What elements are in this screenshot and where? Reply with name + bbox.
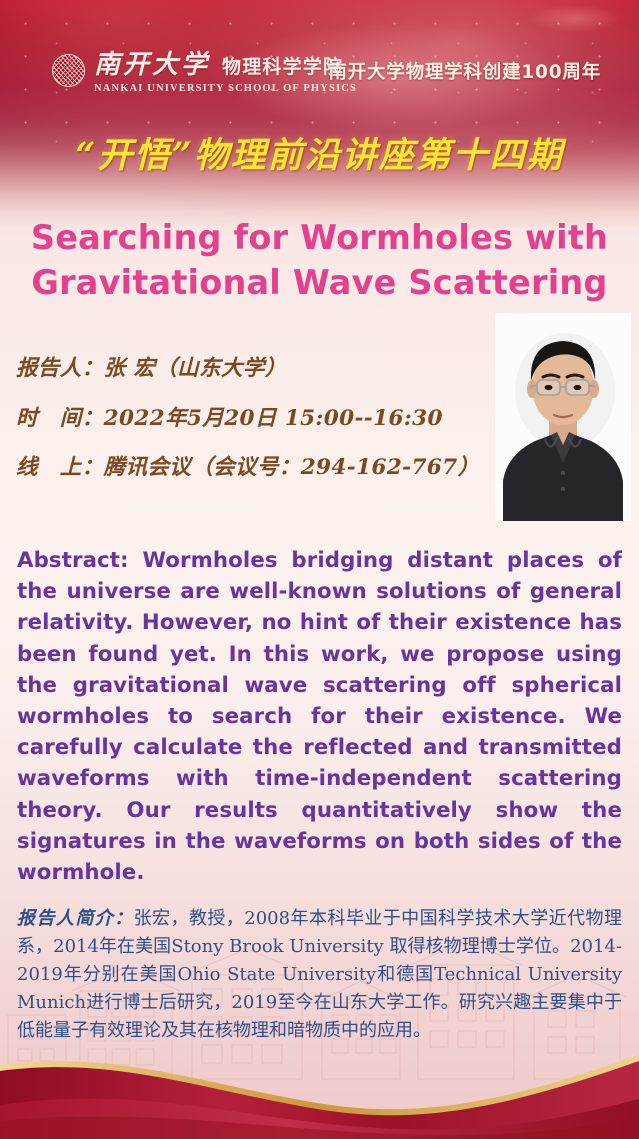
- seminar-poster: 南开大学 物理科学学院 NANKAI UNIVERSITY SCHOOL OF …: [0, 0, 639, 1139]
- logo-university-name-cn: 南开大学: [94, 52, 210, 78]
- lecture-series-title: “开悟”物理前沿讲座第十四期: [0, 127, 639, 178]
- logo-name-en: NANKAI UNIVERSITY SCHOOL OF PHYSICS: [94, 83, 357, 94]
- university-logo: 南开大学 物理科学学院 NANKAI UNIVERSITY SCHOOL OF …: [52, 52, 357, 94]
- talk-info-block: 报告人：张 宏（山东大学） 时 间：2022年5月20日 15:00--16:3…: [16, 358, 496, 479]
- abstract-text: Abstract: Wormholes bridging distant pla…: [17, 545, 622, 888]
- speaker-line: 报告人：张 宏（山东大学）: [16, 358, 496, 380]
- time-line: 时 间：2022年5月20日 15:00--16:30: [16, 408, 496, 430]
- poster-header: 南开大学 物理科学学院 NANKAI UNIVERSITY SCHOOL OF …: [0, 0, 639, 110]
- logo-school-name-cn: 物理科学学院: [222, 58, 343, 77]
- speaker-portrait: [495, 313, 631, 521]
- speaker-bio: 报告人简介：张宏，教授，2008年本科毕业于中国科学技术大学近代物理系，2014…: [17, 905, 622, 1045]
- bottom-red-ribbon: [0, 1047, 639, 1139]
- ribbon-wave-icon: [0, 1047, 639, 1139]
- nankai-university-seal-icon: [52, 54, 85, 87]
- talk-title: Searching for Wormholes with Gravitation…: [18, 216, 621, 306]
- anniversary-text: 南开大学物理学科创建100周年: [328, 58, 601, 84]
- online-meeting-line: 线 上：腾讯会议（会议号：294-162-767）: [16, 457, 496, 479]
- logo-chinese-row: 南开大学 物理科学学院: [94, 52, 357, 78]
- bio-label: 报告人简介：: [17, 908, 134, 929]
- speaker-photo-icon: [495, 313, 631, 521]
- logo-text-group: 南开大学 物理科学学院 NANKAI UNIVERSITY SCHOOL OF …: [94, 52, 357, 94]
- talk-title-line-2: Gravitational Wave Scattering: [18, 261, 621, 306]
- talk-title-line-1: Searching for Wormholes with: [18, 216, 621, 261]
